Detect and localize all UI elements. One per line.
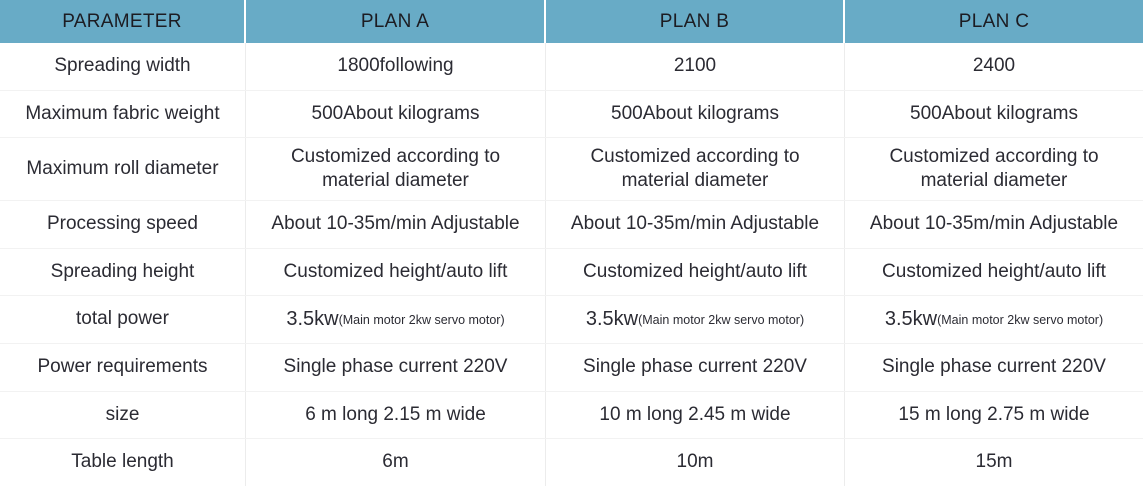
power-value: 3.5kw [286, 307, 338, 333]
table-row: Power requirements Single phase current … [0, 344, 1143, 392]
column-header-parameter: PARAMETER [0, 0, 246, 43]
cell-plan-b: Single phase current 220V [546, 344, 845, 391]
cell-plan-c: 500About kilograms [845, 91, 1143, 138]
cell-plan-b: About 10-35m/min Adjustable [546, 201, 845, 248]
row-label: Maximum roll diameter [0, 138, 246, 200]
row-label: Spreading height [0, 249, 246, 296]
power-value: 3.5kw [586, 307, 638, 333]
cell-plan-a: 1800following [246, 43, 546, 90]
cell-plan-a: About 10-35m/min Adjustable [246, 201, 546, 248]
power-note: (Main motor 2kw servo motor) [339, 312, 505, 328]
cell-plan-b: 10m [546, 439, 845, 486]
cell-plan-c: Customized according to material diamete… [845, 138, 1143, 200]
cell-plan-a: Customized height/auto lift [246, 249, 546, 296]
table-row: Spreading height Customized height/auto … [0, 249, 1143, 297]
cell-plan-a: 6m [246, 439, 546, 486]
table-row: Maximum fabric weight 500About kilograms… [0, 91, 1143, 139]
power-note: (Main motor 2kw servo motor) [638, 312, 804, 328]
cell-plan-a: Customized according to material diamete… [246, 138, 546, 200]
cell-plan-c: 15 m long 2.75 m wide [845, 392, 1143, 439]
cell-plan-c: About 10-35m/min Adjustable [845, 201, 1143, 248]
table-row: Maximum roll diameter Customized accordi… [0, 138, 1143, 201]
column-header-plan-b: PLAN B [546, 0, 845, 43]
cell-plan-c: 15m [845, 439, 1143, 486]
cell-plan-a: 6 m long 2.15 m wide [246, 392, 546, 439]
power-value: 3.5kw [885, 307, 937, 333]
cell-plan-b: Customized height/auto lift [546, 249, 845, 296]
column-header-plan-a: PLAN A [246, 0, 546, 43]
specification-table: PARAMETER PLAN A PLAN B PLAN C Spreading… [0, 0, 1143, 486]
cell-plan-a: 3.5kw(Main motor 2kw servo motor) [246, 296, 546, 343]
table-row: Spreading width 1800following 2100 2400 [0, 43, 1143, 91]
row-label: size [0, 392, 246, 439]
table-row: Processing speed About 10-35m/min Adjust… [0, 201, 1143, 249]
cell-plan-b: 3.5kw(Main motor 2kw servo motor) [546, 296, 845, 343]
row-label: Table length [0, 439, 246, 486]
row-label: total power [0, 296, 246, 343]
cell-plan-c: 3.5kw(Main motor 2kw servo motor) [845, 296, 1143, 343]
power-note: (Main motor 2kw servo motor) [937, 312, 1103, 328]
table-row: size 6 m long 2.15 m wide 10 m long 2.45… [0, 392, 1143, 440]
row-label: Maximum fabric weight [0, 91, 246, 138]
row-label: Power requirements [0, 344, 246, 391]
cell-plan-b: 2100 [546, 43, 845, 90]
table-row: Table length 6m 10m 15m [0, 439, 1143, 486]
cell-plan-b: Customized according to material diamete… [546, 138, 845, 200]
cell-plan-a: Single phase current 220V [246, 344, 546, 391]
table-header-row: PARAMETER PLAN A PLAN B PLAN C [0, 0, 1143, 43]
cell-plan-b: 10 m long 2.45 m wide [546, 392, 845, 439]
table-row: total power 3.5kw(Main motor 2kw servo m… [0, 296, 1143, 344]
table-body: Spreading width 1800following 2100 2400 … [0, 43, 1143, 486]
row-label: Spreading width [0, 43, 246, 90]
cell-plan-c: Customized height/auto lift [845, 249, 1143, 296]
cell-plan-b: 500About kilograms [546, 91, 845, 138]
column-header-plan-c: PLAN C [845, 0, 1143, 43]
cell-plan-a: 500About kilograms [246, 91, 546, 138]
row-label: Processing speed [0, 201, 246, 248]
cell-plan-c: 2400 [845, 43, 1143, 90]
cell-plan-c: Single phase current 220V [845, 344, 1143, 391]
